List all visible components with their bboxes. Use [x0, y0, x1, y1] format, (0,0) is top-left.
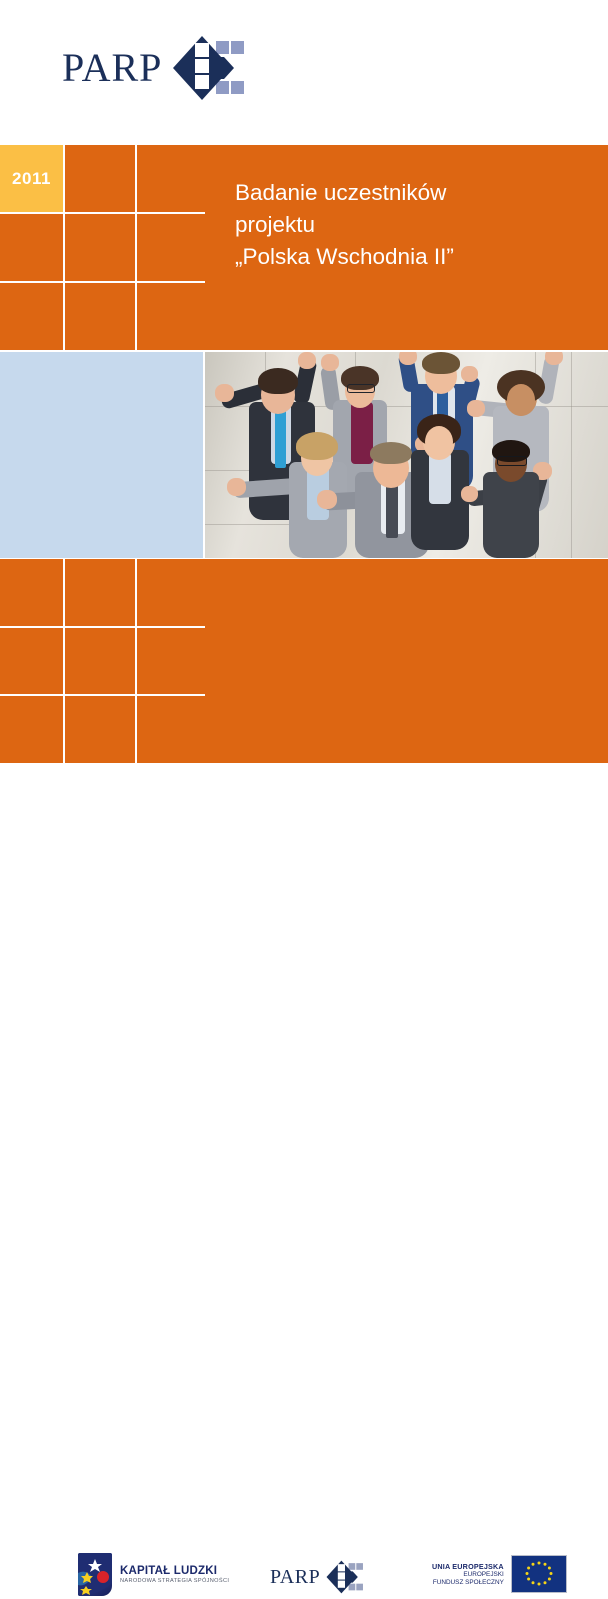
cover-composition: 2011 Badanie uczestników projektu „Polsk…	[0, 145, 608, 763]
bottom-solid-panel	[205, 559, 608, 763]
decor-tile	[65, 628, 135, 695]
kapital-ludzki-subtitle: NARODOWA STRATEGIA SPÓJNOŚCI	[120, 1579, 229, 1585]
decor-tile	[65, 696, 135, 763]
cover-middle-band	[0, 352, 608, 558]
decor-tile	[0, 696, 63, 763]
tile-grid-top: 2011	[0, 145, 203, 350]
decor-tile	[65, 559, 135, 626]
decor-tile	[0, 214, 63, 281]
kapital-ludzki-text: KAPITAŁ LUDZKI NARODOWA STRATEGIA SPÓJNO…	[120, 1565, 229, 1585]
decor-tile	[137, 559, 207, 626]
decor-tile	[65, 145, 135, 212]
unia-europejska-logo: UNIA EUROPEJSKA EUROPEJSKI FUNDUSZ SPOŁE…	[432, 1555, 567, 1593]
parp-wordmark-footer: PARP	[270, 1566, 320, 1589]
ue-line-2: EUROPEJSKI	[432, 1571, 504, 1579]
parp-logo: PARP	[62, 32, 252, 104]
decor-tile	[65, 214, 135, 281]
decor-tile	[137, 145, 207, 212]
kapital-ludzki-logo: KAPITAŁ LUDZKI NARODOWA STRATEGIA SPÓJNO…	[78, 1553, 229, 1596]
tile-grid-bottom	[0, 559, 203, 763]
title-panel: Badanie uczestników projektu „Polska Wsc…	[205, 145, 608, 350]
footer-logo-bar: KAPITAŁ LUDZKI NARODOWA STRATEGIA SPÓJNO…	[0, 763, 608, 871]
decor-tile	[0, 559, 63, 626]
eu-flag-icon	[511, 1555, 567, 1593]
parp-diamond-icon	[326, 1560, 364, 1594]
decor-tile	[0, 628, 63, 695]
stars-emblem-icon	[78, 1553, 112, 1596]
year-label: 2011	[12, 169, 51, 189]
decor-tile	[137, 283, 207, 350]
ue-line-3: FUNDUSZ SPOŁECZNY	[432, 1579, 504, 1587]
unia-europejska-text: UNIA EUROPEJSKA EUROPEJSKI FUNDUSZ SPOŁE…	[432, 1562, 504, 1587]
decor-tile	[137, 214, 207, 281]
title-line-3: „Polska Wschodnia II”	[235, 241, 585, 273]
title-line-1: Badanie uczestników	[235, 177, 585, 209]
parp-diamond-icon	[172, 35, 246, 101]
page-title: Badanie uczestników projektu „Polska Wsc…	[235, 177, 585, 273]
cover-top-band: 2011 Badanie uczestników projektu „Polsk…	[0, 145, 608, 350]
year-tile: 2011	[0, 145, 63, 212]
parp-logo-footer: PARP	[270, 1560, 364, 1594]
decor-tile	[0, 283, 63, 350]
decor-tile	[65, 283, 135, 350]
parp-wordmark: PARP	[62, 48, 162, 88]
decor-tile	[137, 628, 207, 695]
blue-accent-panel	[0, 352, 203, 558]
ue-line-1: UNIA EUROPEJSKA	[432, 1562, 504, 1571]
cover-bottom-band	[0, 559, 608, 763]
team-celebration-photo	[205, 352, 608, 558]
decor-tile	[137, 696, 207, 763]
title-line-2: projektu	[235, 209, 585, 241]
kapital-ludzki-title: KAPITAŁ LUDZKI	[120, 1565, 229, 1577]
